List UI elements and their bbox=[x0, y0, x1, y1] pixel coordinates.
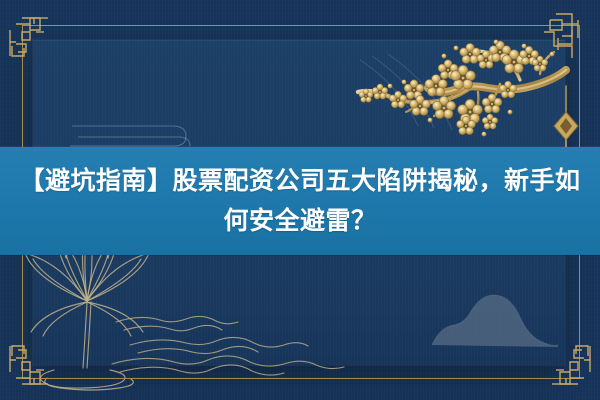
page-title: 【避坑指南】股票配资公司五大陷阱揭秘，新手如 何安全避雷？ bbox=[10, 161, 590, 241]
title-line-2: 何安全避雷？ bbox=[10, 201, 590, 241]
cover-canvas: 【避坑指南】股票配资公司五大陷阱揭秘，新手如 何安全避雷？ bbox=[0, 0, 600, 400]
title-line-1: 【避坑指南】股票配资公司五大陷阱揭秘，新手如 bbox=[10, 161, 590, 201]
title-band: 【避坑指南】股票配资公司五大陷阱揭秘，新手如 何安全避雷？ bbox=[0, 147, 600, 255]
